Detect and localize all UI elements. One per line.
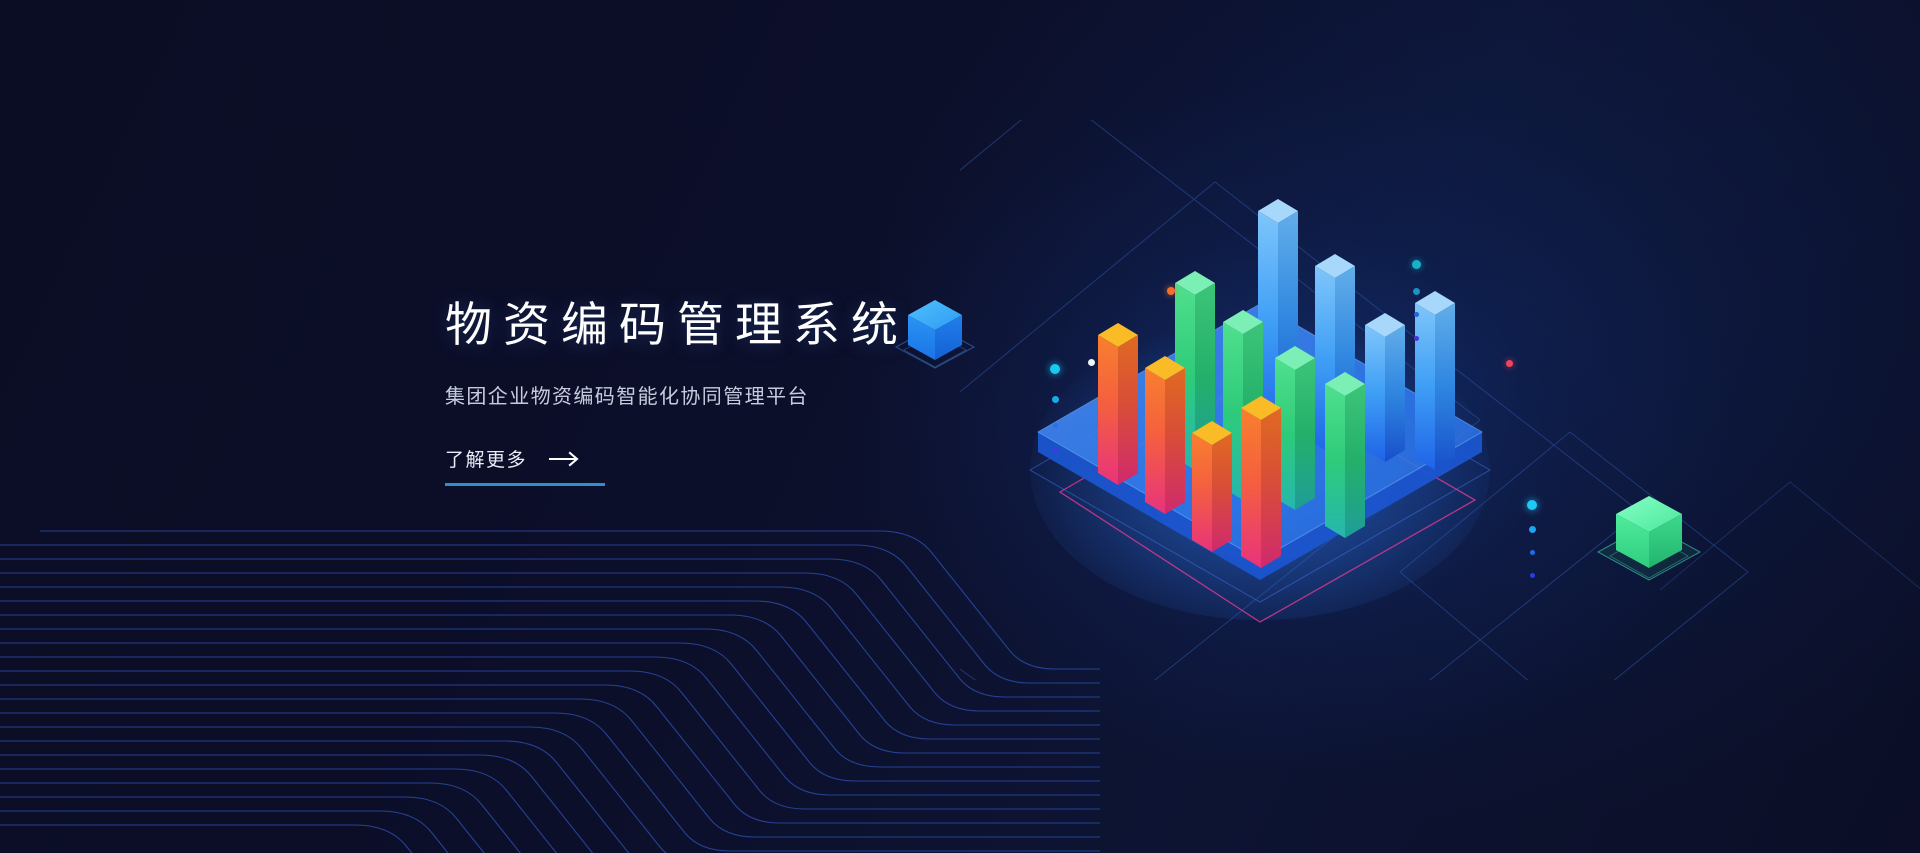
bar-green-4 — [1325, 372, 1365, 538]
dot — [1527, 500, 1537, 510]
dot — [1412, 260, 1421, 269]
isometric-3d-bar-chart — [1020, 170, 1500, 640]
dot — [1530, 573, 1535, 578]
bar-orange-1 — [1098, 323, 1138, 485]
accent-dot-red — [1506, 360, 1513, 367]
accent-dot-orange — [1167, 287, 1175, 295]
dot — [1414, 312, 1419, 317]
accent-dot-white — [1088, 359, 1095, 366]
learn-more-link[interactable]: 了解更多 — [445, 445, 605, 486]
page-subtitle: 集团企业物资编码智能化协同管理平台 — [445, 380, 1005, 409]
dot — [1052, 396, 1059, 403]
dot — [1050, 364, 1060, 374]
dot — [1414, 336, 1419, 341]
dot — [1053, 423, 1058, 428]
bar-blue-4 — [1365, 313, 1405, 462]
page-title: 物资编码管理系统 — [445, 296, 1005, 353]
hero-banner: 物资编码管理系统 集团企业物资编码智能化协同管理平台 了解更多 — [0, 0, 1920, 853]
hero-copy: 物资编码管理系统 集团企业物资编码智能化协同管理平台 了解更多 — [445, 296, 1005, 486]
bar-orange-2 — [1145, 356, 1185, 514]
bar-orange-4 — [1241, 396, 1281, 568]
dot — [1413, 288, 1420, 295]
dot — [1053, 448, 1058, 453]
dot-column-left — [1050, 364, 1066, 474]
arrow-right-icon — [549, 451, 581, 467]
dot — [1529, 526, 1536, 533]
dot-column-lower-right — [1527, 500, 1543, 610]
circuit-line-pattern — [0, 523, 1100, 853]
learn-more-label: 了解更多 — [445, 445, 527, 472]
dot-column-upper-right — [1412, 260, 1428, 370]
dot — [1530, 550, 1535, 555]
green-cube-icon — [1592, 482, 1706, 592]
bar-orange-3 — [1192, 421, 1232, 552]
